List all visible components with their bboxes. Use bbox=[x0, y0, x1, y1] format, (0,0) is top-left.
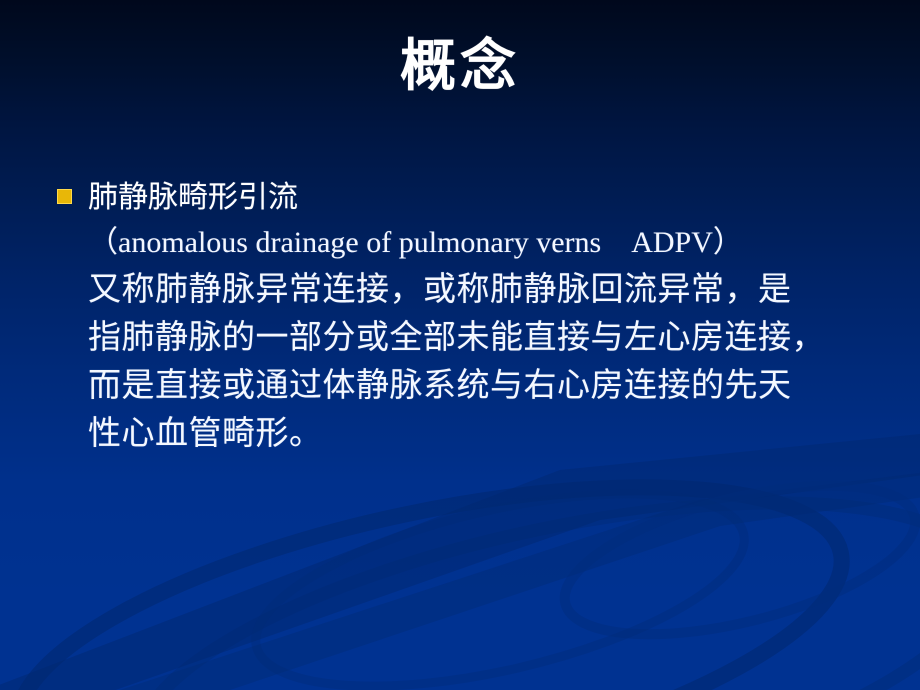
body-line-2: 指肺静脉的一部分或全部未能直接与左心房连接， bbox=[88, 313, 882, 361]
square-bullet-icon bbox=[57, 189, 72, 204]
body-line-3: 而是直接或通过体静脉系统与右心房连接的先天 bbox=[88, 361, 882, 409]
list-item: 肺静脉畸形引流 bbox=[52, 176, 882, 220]
bullet-continuation: （anomalous drainage of pulmonary verns A… bbox=[52, 220, 882, 457]
body-line-1: 又称肺静脉异常连接，或称肺静脉回流异常，是 bbox=[88, 265, 882, 313]
slide-canvas: 概念 肺静脉畸形引流 （anomalous drainage of pulmon… bbox=[0, 0, 920, 690]
content-body: 肺静脉畸形引流 （anomalous drainage of pulmonary… bbox=[52, 176, 882, 457]
page-title: 概念 bbox=[0, 34, 920, 98]
body-line-english: （anomalous drainage of pulmonary verns A… bbox=[88, 220, 882, 265]
bullet-heading-text: 肺静脉畸形引流 bbox=[88, 176, 882, 220]
body-line-4: 性心血管畸形。 bbox=[88, 409, 882, 457]
